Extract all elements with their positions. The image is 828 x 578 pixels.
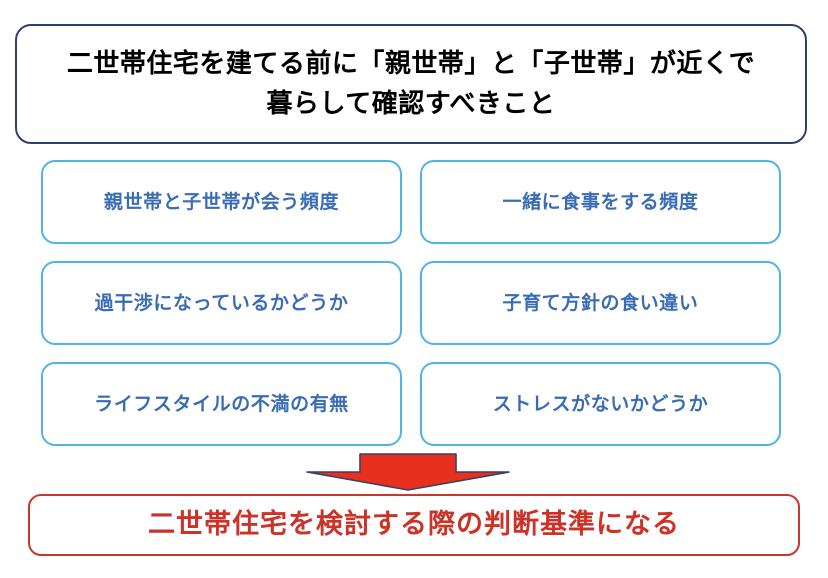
- conclusion-box: 二世帯住宅を検討する際の判断基準になる: [28, 494, 800, 556]
- title-box: 二世帯住宅を建てる前に「親世帯」と「子世帯」が近くで 暮らして確認すべきこと: [15, 24, 807, 144]
- factor-box-6[interactable]: ストレスがないかどうか: [420, 362, 781, 446]
- factor-label-6: ストレスがないかどうか: [483, 392, 719, 417]
- factor-label-3: 過干渉になっているかどうか: [85, 291, 359, 316]
- infographic-diagram: 二世帯住宅を建てる前に「親世帯」と「子世帯」が近くで 暮らして確認すべきこと 親…: [0, 0, 828, 578]
- factor-box-2[interactable]: 一緒に食事をする頻度: [420, 160, 781, 244]
- conclusion-text: 二世帯住宅を検討する際の判断基準になる: [148, 509, 680, 541]
- down-arrow-icon: [306, 453, 510, 491]
- factor-label-2: 一緒に食事をする頻度: [492, 190, 708, 215]
- factor-label-4: 子育て方針の食い違い: [492, 291, 708, 316]
- factor-box-4[interactable]: 子育て方針の食い違い: [420, 261, 781, 345]
- factor-label-5: ライフスタイルの不満の有無: [84, 392, 359, 417]
- factor-box-5[interactable]: ライフスタイルの不満の有無: [41, 362, 402, 446]
- factor-box-1[interactable]: 親世帯と子世帯が会う頻度: [41, 160, 402, 244]
- factor-box-3[interactable]: 過干渉になっているかどうか: [41, 261, 402, 345]
- title-text: 二世帯住宅を建てる前に「親世帯」と「子世帯」が近くで 暮らして確認すべきこと: [53, 44, 769, 125]
- factor-label-1: 親世帯と子世帯が会う頻度: [94, 190, 349, 215]
